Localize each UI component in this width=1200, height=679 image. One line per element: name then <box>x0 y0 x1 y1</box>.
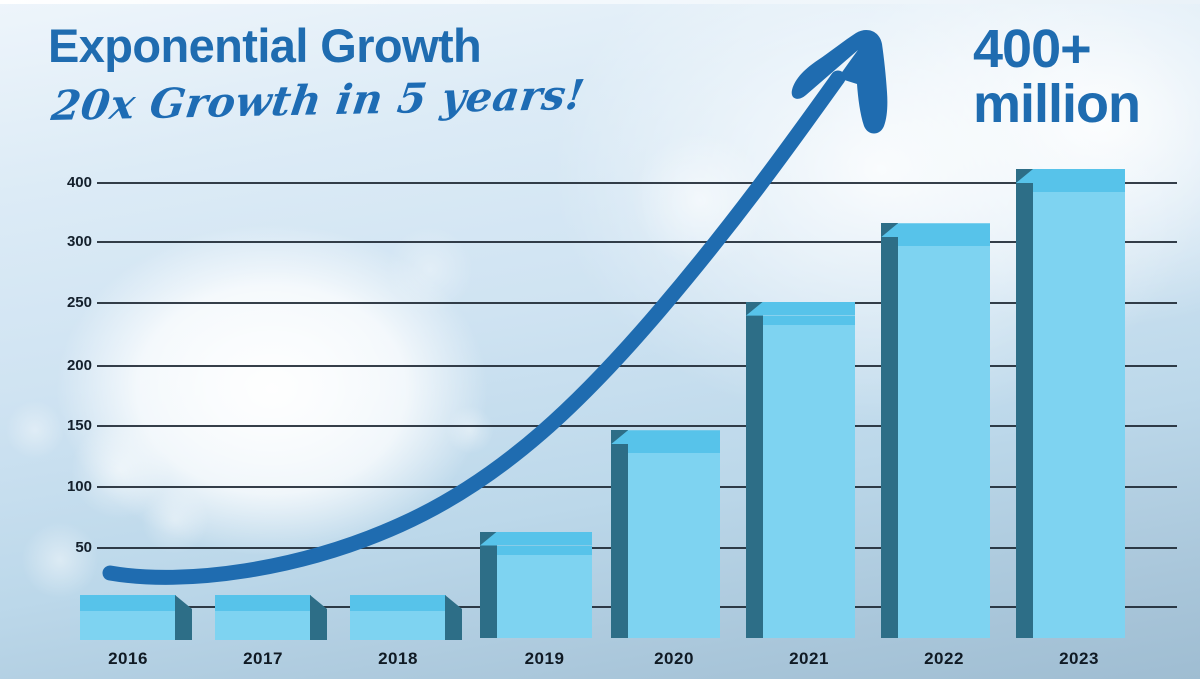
bar-top-bevel <box>80 595 176 611</box>
x-axis-label: 2020 <box>622 649 726 669</box>
bar-side-face <box>480 532 497 638</box>
bar-top-bevel <box>215 595 311 611</box>
bar-front-face <box>215 609 311 640</box>
bar-side-face <box>746 302 763 638</box>
bar-chart: 400300250200150100500 201620172018201920… <box>0 0 1200 679</box>
bar-top-face <box>1033 183 1125 192</box>
bar-front-face <box>763 316 855 638</box>
x-axis-label: 2023 <box>1027 649 1131 669</box>
x-axis-label: 2018 <box>344 649 452 669</box>
bar-front-face <box>350 609 446 640</box>
gridline <box>97 182 1177 184</box>
x-axis-label: 2021 <box>757 649 861 669</box>
y-axis-tick-label: 50 <box>26 540 92 555</box>
bar-top-bevel <box>350 595 446 611</box>
bar-side-face <box>310 595 327 640</box>
bar-2020[interactable] <box>628 444 720 638</box>
bar-side-face <box>175 595 192 640</box>
gridline <box>97 241 1177 243</box>
y-axis-tick-label: 300 <box>26 234 92 249</box>
bar-side-face <box>1016 169 1033 638</box>
bar-top-bevel <box>746 302 855 316</box>
x-axis-label: 2022 <box>892 649 996 669</box>
x-axis-label: 2017 <box>209 649 317 669</box>
bar-2021[interactable] <box>763 316 855 638</box>
bar-2023[interactable] <box>1033 183 1125 638</box>
gridline <box>97 425 1177 427</box>
bar-front-face <box>628 444 720 638</box>
bar-side-face <box>881 223 898 638</box>
bar-top-face <box>763 316 855 325</box>
bar-top-face <box>628 444 720 453</box>
bar-front-face <box>80 609 176 640</box>
infographic-canvas: Exponential Growth 20x Growth in 5 years… <box>0 0 1200 679</box>
bar-2017[interactable] <box>215 609 311 640</box>
bar-2016[interactable] <box>80 609 176 640</box>
bar-2019[interactable] <box>497 546 592 638</box>
bar-top-face <box>898 237 990 246</box>
y-axis-tick-label: 150 <box>26 418 92 433</box>
bar-front-face <box>898 237 990 638</box>
bar-front-face <box>497 546 592 638</box>
bar-front-face <box>1033 183 1125 638</box>
bar-side-face <box>445 595 462 640</box>
y-axis-tick-label: 400 <box>26 175 92 190</box>
bar-side-face <box>611 430 628 638</box>
bar-top-bevel <box>480 532 592 546</box>
bar-top-bevel <box>1016 169 1125 183</box>
gridline <box>97 365 1177 367</box>
gridline <box>97 302 1177 304</box>
y-axis-tick-label: 200 <box>26 358 92 373</box>
bar-2018[interactable] <box>350 609 446 640</box>
x-axis-label: 2019 <box>491 649 598 669</box>
y-axis-tick-label: 100 <box>26 479 92 494</box>
bar-2022[interactable] <box>898 237 990 638</box>
x-axis-label: 2016 <box>74 649 182 669</box>
bar-top-bevel <box>611 430 720 444</box>
bar-top-face <box>497 546 592 555</box>
y-axis-tick-label: 250 <box>26 295 92 310</box>
bar-top-bevel <box>881 223 990 237</box>
